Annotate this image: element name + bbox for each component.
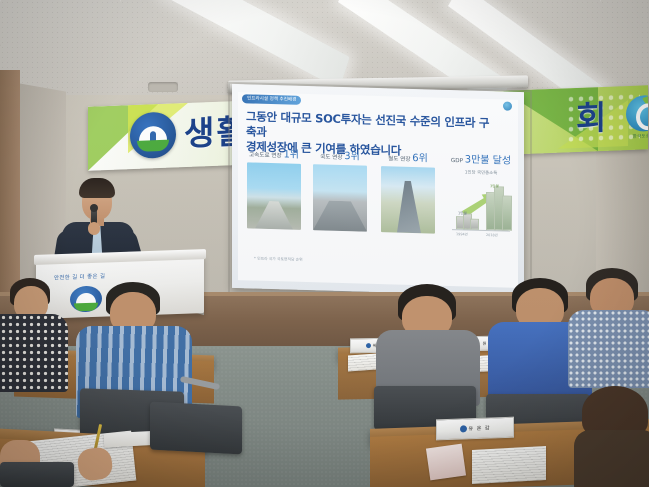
attendee-left-front <box>0 278 66 390</box>
banner-title-right: 회 <box>576 94 616 142</box>
plate-logo-icon <box>366 343 371 348</box>
eco-green-logo <box>624 94 648 138</box>
expressway-corporation-logo <box>130 111 176 159</box>
chair-foreground-bottom <box>0 462 74 487</box>
attendee-right-pattern <box>568 268 649 388</box>
name-plate-text: 유 온 감 <box>469 424 491 432</box>
smoke-detector <box>148 82 178 92</box>
name-plate-front: 유 온 감 <box>436 417 514 441</box>
booklet-front <box>426 444 466 481</box>
attendee-torso <box>0 314 68 392</box>
chair-foreground-left <box>150 402 242 455</box>
plate-logo-icon <box>460 425 467 432</box>
attendee-torso <box>574 430 649 487</box>
screen-frame <box>228 82 532 304</box>
door-frame <box>0 70 20 310</box>
attendee-foreground-right <box>574 386 649 487</box>
presenter-hair <box>79 178 115 198</box>
handout-front <box>472 446 546 484</box>
seminar-room-photo: 생활 회 한국도로공사 인프라시설 정책 추진배경 그동안 대규모 SOC투자는… <box>0 0 649 487</box>
eco-logo-caption: 한국도로공사 <box>616 132 648 140</box>
presenter-hand-with-mic <box>88 222 100 235</box>
attendee-torso <box>568 310 649 388</box>
